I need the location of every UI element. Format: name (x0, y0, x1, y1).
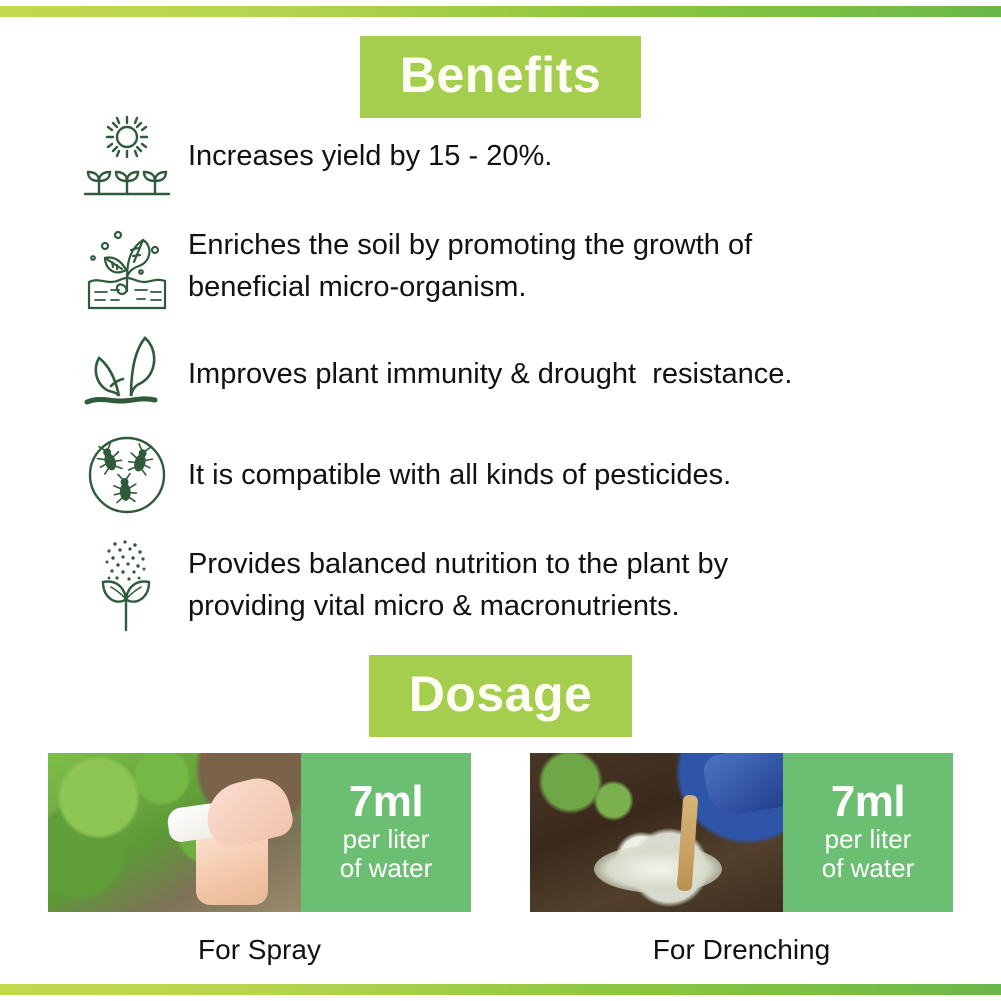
dosage-card-drenching: 7ml per liter of water For Drenching (530, 753, 953, 966)
dosage-sub-line2: of water (822, 854, 915, 883)
watering-can-shape (701, 753, 783, 819)
watering-can-drenching-soil-photo (530, 753, 783, 912)
benefit-item: Improves plant immunity & drought resist… (78, 328, 938, 420)
benefit-item: Enriches the soil by promoting the growt… (78, 212, 938, 320)
benefit-text: Enriches the soil by promoting the growt… (176, 224, 752, 308)
dosage-sub-line1: per liter (343, 825, 430, 854)
benefits-list: Increases yield by 15 - 20%. (78, 108, 938, 648)
insects-in-circle-icon (78, 429, 176, 521)
benefit-text: It is compatible with all kinds of pesti… (176, 454, 731, 496)
dosage-amount-panel: 7ml per liter of water (301, 753, 471, 912)
benefits-heading: Benefits (360, 36, 641, 118)
benefits-heading-wrap: Benefits (0, 36, 1001, 118)
dosage-amount: 7ml (831, 780, 905, 825)
dosage-card-spray: 7ml per liter of water For Spray (48, 753, 471, 966)
dosage-sub-line1: per liter (825, 825, 912, 854)
two-leaves-on-ground-icon (78, 328, 176, 420)
dosage-strip: 7ml per liter of water (48, 753, 471, 912)
benefit-text: Provides balanced nutrition to the plant… (176, 543, 728, 627)
dosage-cards: 7ml per liter of water For Spray 7ml per… (48, 753, 953, 966)
water-puddle-shape (594, 845, 722, 893)
benefit-item: Increases yield by 15 - 20%. (78, 108, 938, 204)
dosage-amount: 7ml (349, 780, 423, 825)
dosage-caption: For Drenching (530, 934, 953, 966)
nutrient-sprinkle-plant-icon (78, 539, 176, 631)
benefit-item: It is compatible with all kinds of pesti… (78, 428, 938, 522)
benefit-item: Provides balanced nutrition to the plant… (78, 530, 938, 640)
hand-spraying-green-plants-photo (48, 753, 301, 912)
benefit-text: Increases yield by 15 - 20%. (176, 135, 552, 177)
benefit-text: Improves plant immunity & drought resist… (176, 353, 792, 395)
dosage-caption: For Spray (48, 934, 471, 966)
dosage-amount-panel: 7ml per liter of water (783, 753, 953, 912)
dosage-sub-line2: of water (340, 854, 433, 883)
bottom-gradient-bar (0, 984, 1001, 995)
dosage-strip: 7ml per liter of water (530, 753, 953, 912)
dosage-heading-wrap: Dosage (0, 655, 1001, 737)
plant-roots-in-soil-icon (78, 220, 176, 312)
top-gradient-bar (0, 6, 1001, 17)
dosage-heading: Dosage (369, 655, 633, 737)
sun-over-seedlings-icon (78, 110, 176, 202)
